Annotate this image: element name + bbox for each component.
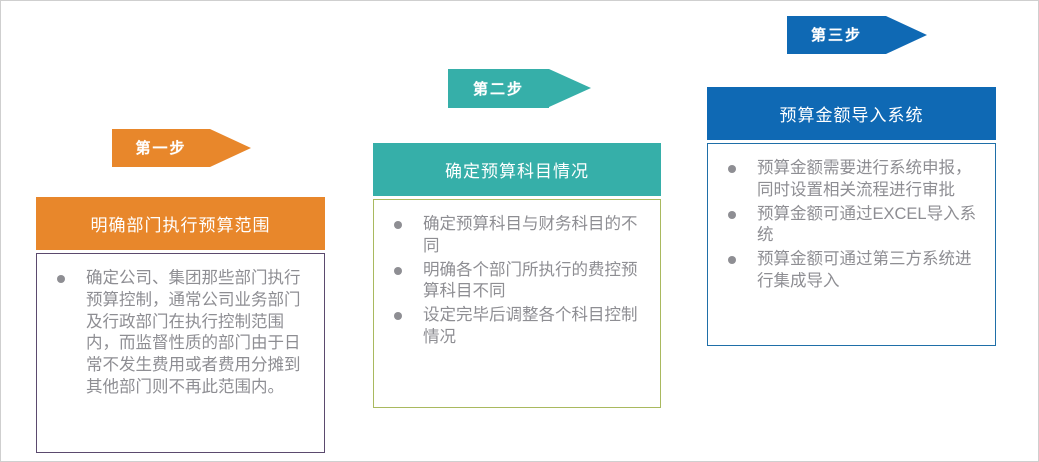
step-arrow-2-body: 第二步 [448,69,549,108]
step-3-bullet-list: 预算金额需要进行系统申报，同时设置相关流程进行审批 预算金额可通过EXCEL导入… [714,158,985,293]
list-item: 确定预算科目与财务科目的不同 [380,214,650,258]
step-header-1: 明确部门执行预算范围 [36,197,325,250]
step-arrow-3-body: 第三步 [787,16,886,54]
step-arrow-2-label: 第二步 [448,78,549,99]
step-arrow-1: 第一步 [112,129,251,167]
step-header-3-title: 预算金额导入系统 [780,101,924,126]
step-header-2-title: 确定预算科目情况 [445,157,589,182]
list-item: 预算金额需要进行系统申报，同时设置相关流程进行审批 [714,158,985,202]
step-body-2: 确定预算科目与财务科目的不同 明确各个部门所执行的费控预算科目不同 设定完毕后调… [373,199,661,408]
step-arrow-3-head-icon [886,16,927,54]
step-arrow-1-head-icon [210,129,251,167]
step-arrow-2: 第二步 [448,69,591,108]
step-body-1: 确定公司、集团那些部门执行预算控制，通常公司业务部门及行政部门在执行控制范围内，… [36,253,325,453]
flow-diagram-canvas: 第一步 明确部门执行预算范围 确定公司、集团那些部门执行预算控制，通常公司业务部… [0,0,1039,462]
step-arrow-3: 第三步 [787,16,927,54]
list-item: 明确各个部门所执行的费控预算科目不同 [380,260,650,304]
list-item: 预算金额可通过第三方系统进行集成导入 [714,249,985,293]
step-header-2: 确定预算科目情况 [373,143,661,196]
step-2-bullet-list: 确定预算科目与财务科目的不同 明确各个部门所执行的费控预算科目不同 设定完毕后调… [380,214,650,349]
step-header-3: 预算金额导入系统 [707,87,996,140]
list-item: 确定公司、集团那些部门执行预算控制，通常公司业务部门及行政部门在执行控制范围内，… [43,268,314,399]
step-arrow-1-body: 第一步 [112,129,210,167]
list-item: 预算金额可通过EXCEL导入系统 [714,204,985,248]
step-body-3: 预算金额需要进行系统申报，同时设置相关流程进行审批 预算金额可通过EXCEL导入… [707,143,996,346]
step-1-bullet-list: 确定公司、集团那些部门执行预算控制，通常公司业务部门及行政部门在执行控制范围内，… [43,268,314,399]
step-arrow-2-head-icon [549,69,591,107]
step-header-1-title: 明确部门执行预算范围 [91,211,271,236]
list-item: 设定完毕后调整各个科目控制情况 [380,305,650,349]
step-arrow-3-label: 第三步 [787,24,886,45]
step-arrow-1-label: 第一步 [112,137,210,158]
